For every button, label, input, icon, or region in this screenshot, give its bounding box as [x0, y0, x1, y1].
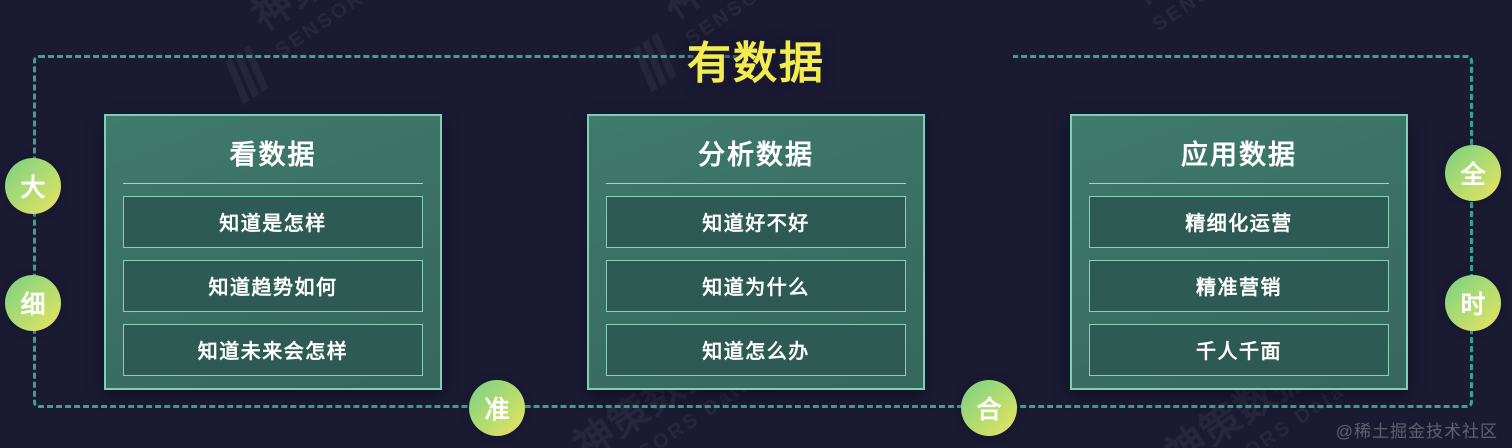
card-analyze-data[interactable]: 分析数据 知道好不好 知道为什么 知道怎么办 [587, 114, 925, 390]
badge-xi[interactable]: 细 [5, 275, 61, 331]
card-item[interactable]: 知道趋势如何 [123, 260, 423, 312]
card-item[interactable]: 知道好不好 [606, 196, 906, 248]
card-item[interactable]: 知道怎么办 [606, 324, 906, 376]
watermark-brand-cn: 神策 [654, 0, 747, 28]
card-item[interactable]: 精准营销 [1089, 260, 1389, 312]
slide-canvas: 神策 SENSORS /// 神策 SENSORS /// 神策 SENSORS… [0, 0, 1512, 448]
badge-shi[interactable]: 时 [1445, 275, 1501, 331]
card-row: 看数据 知道是怎样 知道趋势如何 知道未来会怎样 分析数据 知道好不好 知道为什… [0, 114, 1512, 390]
card-item[interactable]: 知道未来会怎样 [123, 324, 423, 376]
card-item[interactable]: 知道为什么 [606, 260, 906, 312]
card-item[interactable]: 精细化运营 [1089, 196, 1389, 248]
corner-watermark: @稀土掘金技术社区 [1336, 417, 1498, 442]
watermark-brand-cn: 神策 [1121, 0, 1214, 14]
card-apply-data[interactable]: 应用数据 精细化运营 精准营销 千人千面 [1070, 114, 1408, 390]
badge-quan[interactable]: 全 [1445, 145, 1501, 201]
card-heading: 看数据 [123, 133, 423, 184]
card-item[interactable]: 知道是怎样 [123, 196, 423, 248]
card-heading: 应用数据 [1089, 133, 1389, 184]
badge-zhun[interactable]: 准 [469, 380, 525, 436]
card-view-data[interactable]: 看数据 知道是怎样 知道趋势如何 知道未来会怎样 [104, 114, 442, 390]
page-title: 有数据 [0, 27, 1512, 91]
badge-da[interactable]: 大 [5, 158, 61, 214]
badge-he[interactable]: 合 [961, 380, 1017, 436]
card-heading: 分析数据 [606, 133, 906, 184]
card-item[interactable]: 千人千面 [1089, 324, 1389, 376]
